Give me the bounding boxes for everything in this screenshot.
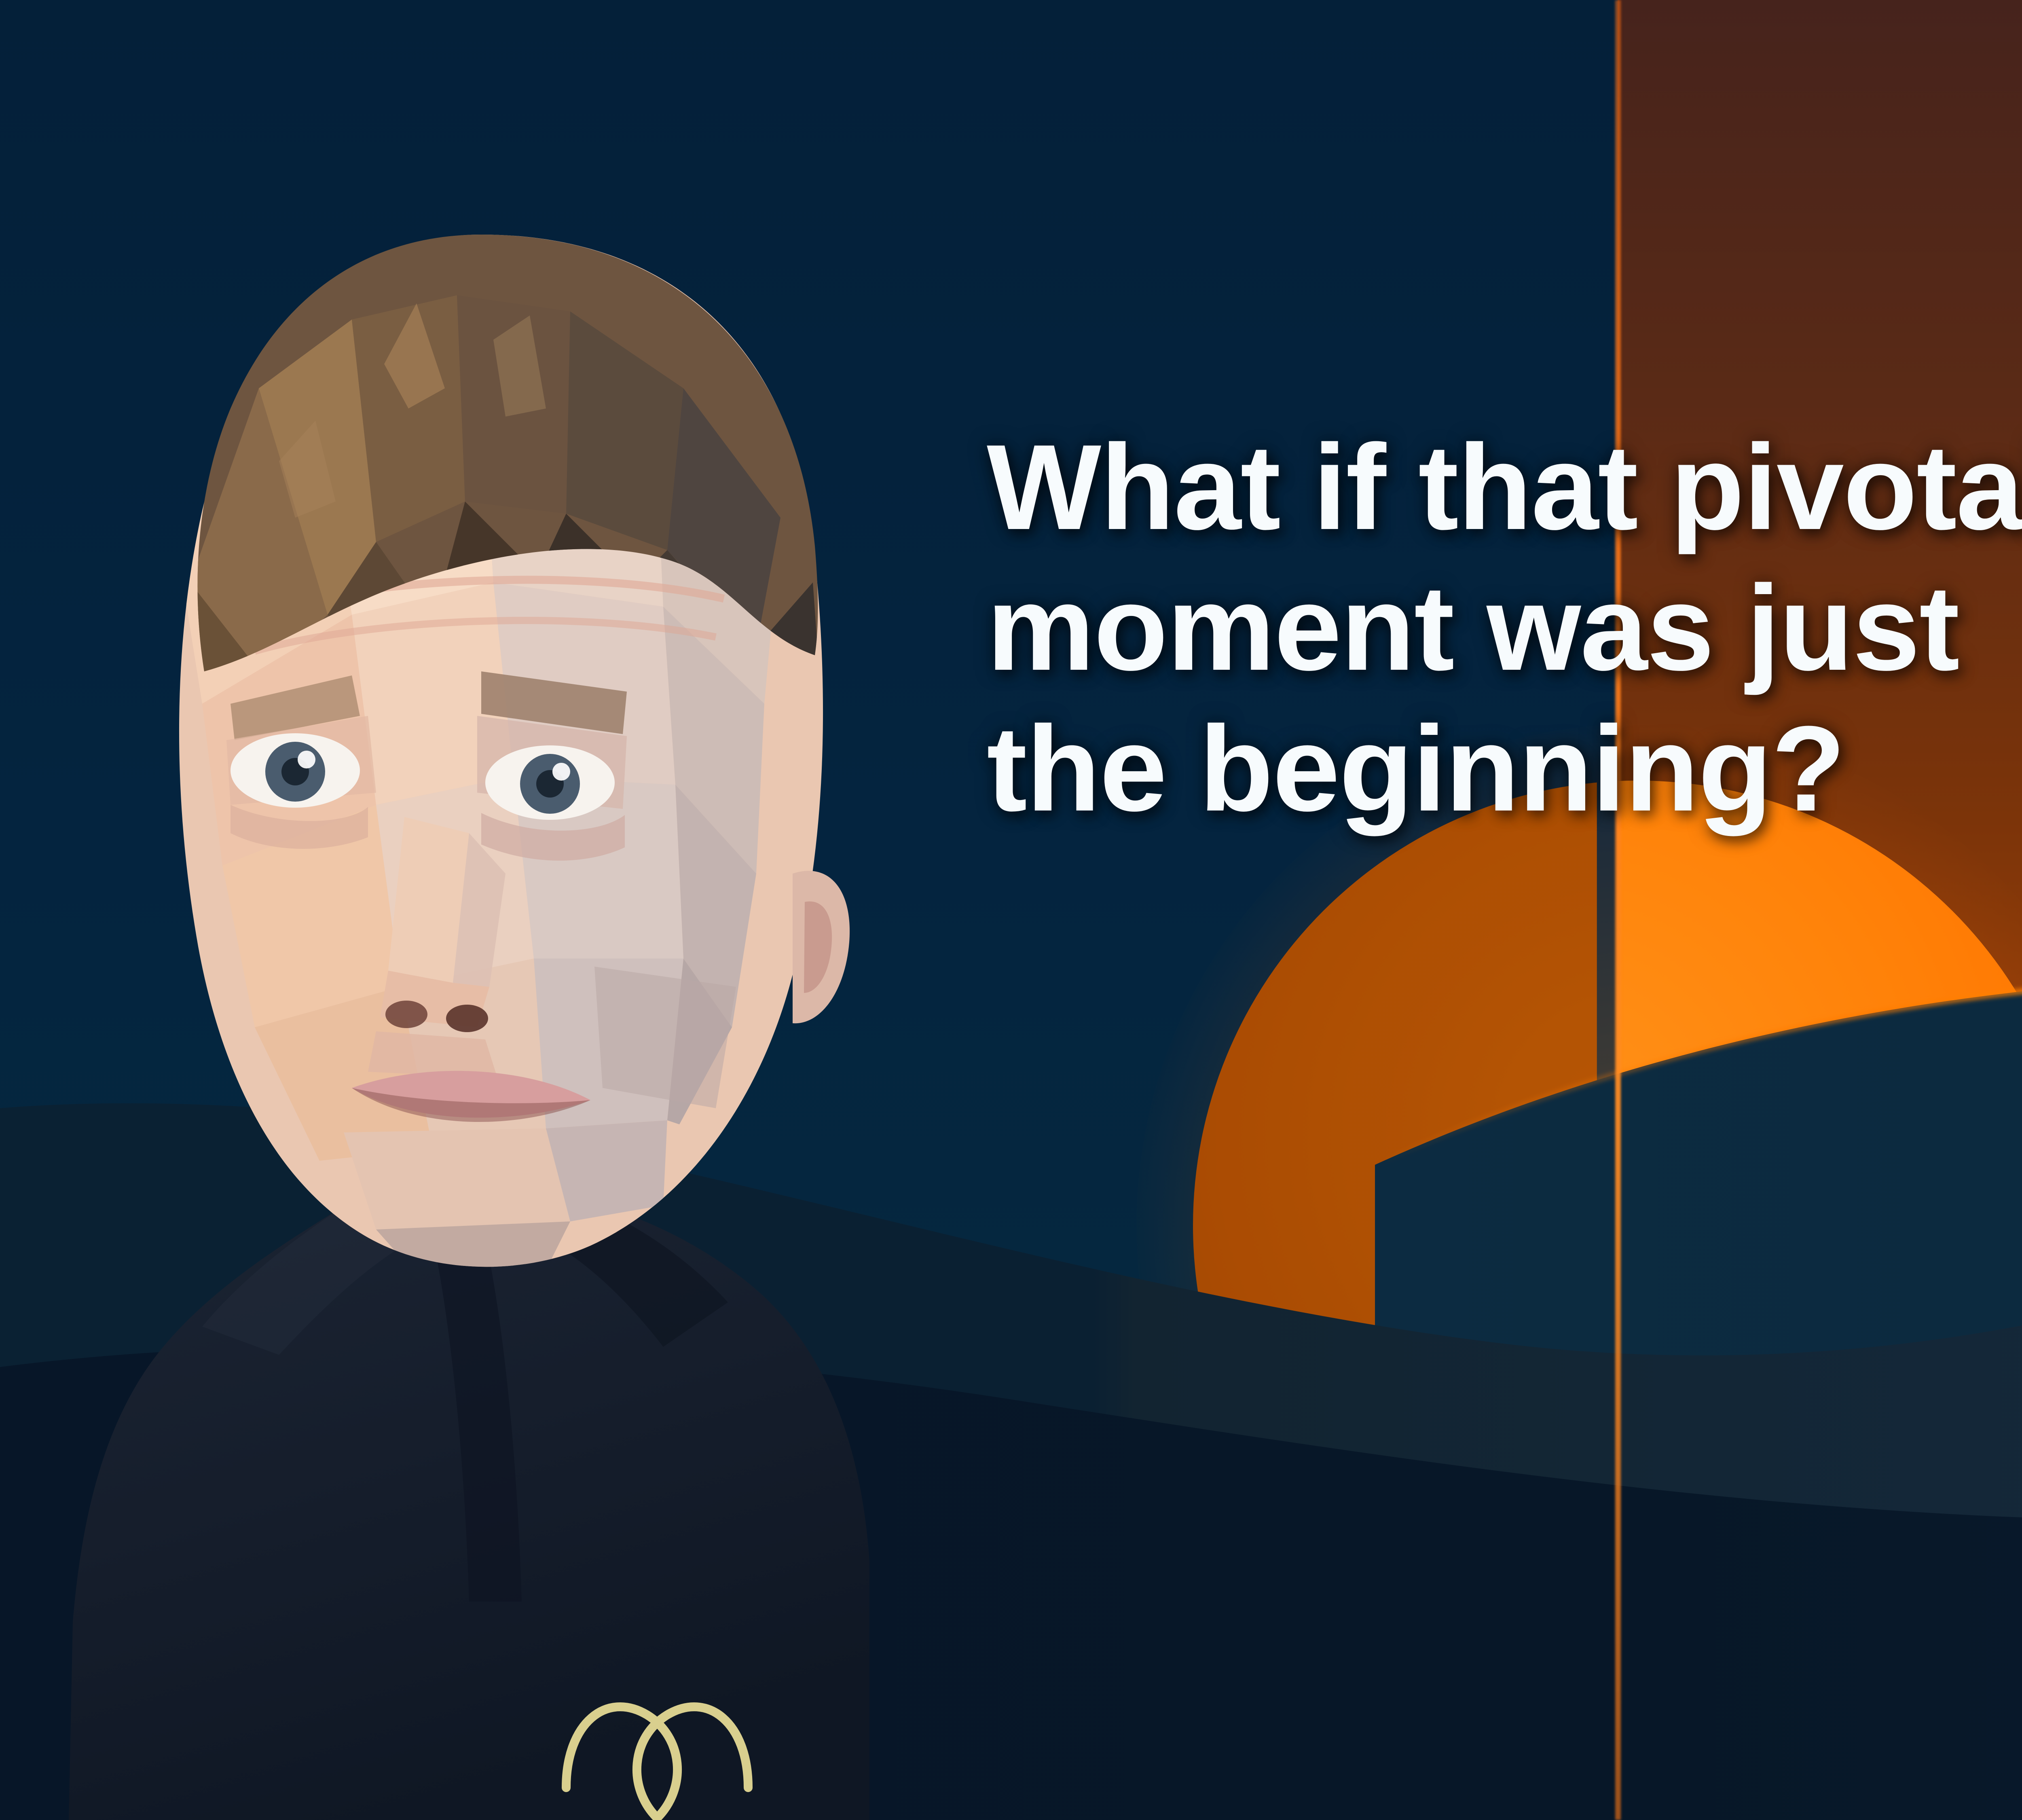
headline-text: What if that pivotal moment was just the… [987, 417, 2022, 839]
portrait-ear [793, 871, 850, 1023]
left-nostril [385, 1001, 427, 1028]
portrait-torso [69, 1197, 869, 1820]
episode-cover-art: What if that pivotal moment was just the… [0, 0, 2022, 1820]
host-portrait-illustration [69, 218, 886, 1820]
vertical-split-divider [1615, 0, 1621, 1820]
right-nostril [446, 1005, 488, 1032]
